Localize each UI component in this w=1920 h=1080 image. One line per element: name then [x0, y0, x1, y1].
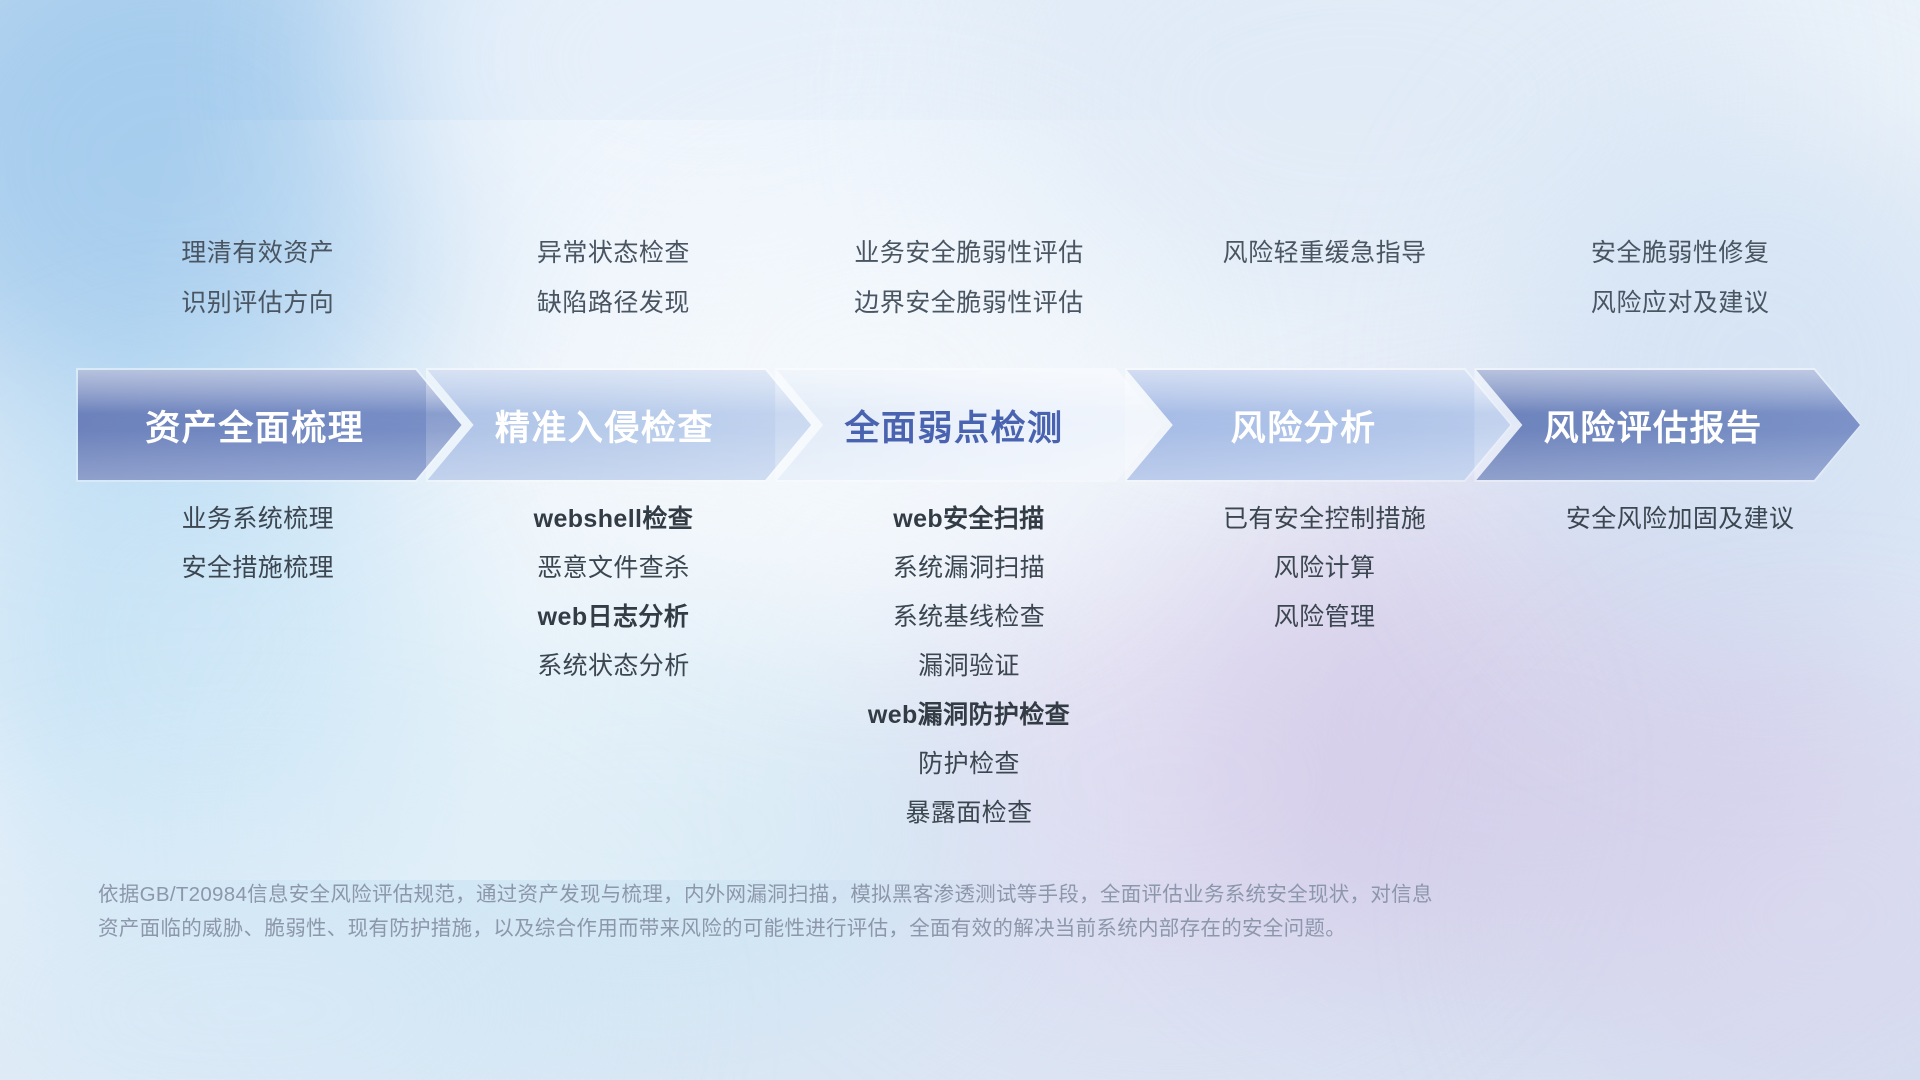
list-item: 安全措施梳理	[182, 544, 334, 593]
list-item: web日志分析	[538, 593, 689, 642]
top-label: 异常状态检查	[537, 228, 690, 278]
stage-details-row: 业务系统梳理 安全措施梳理 webshell检查 恶意文件查杀 web日志分析 …	[80, 495, 1858, 838]
top-label: 识别评估方向	[181, 278, 334, 328]
top-labels-weakness-detection: 业务安全脆弱性评估 边界安全脆弱性评估	[791, 228, 1147, 338]
list-item: 风险计算	[1274, 544, 1376, 593]
list-item: 已有安全控制措施	[1223, 495, 1426, 544]
top-label: 缺陷路径发现	[537, 278, 690, 328]
top-label: 风险轻重缓急指导	[1223, 228, 1427, 278]
top-label: 业务安全脆弱性评估	[854, 228, 1084, 278]
detail-list-asset-inventory: 业务系统梳理 安全措施梳理	[80, 495, 436, 593]
top-labels-risk-analysis: 风险轻重缓急指导	[1147, 228, 1503, 338]
stage-arrow-asset-inventory[interactable]: 资产全面梳理	[78, 370, 462, 480]
top-labels-intrusion-check: 异常状态检查 缺陷路径发现	[436, 228, 792, 338]
stage-title: 资产全面梳理	[145, 400, 394, 451]
list-item: 安全风险加固及建议	[1566, 495, 1795, 544]
stage-title: 全面弱点检测	[844, 400, 1093, 451]
list-item: 漏洞验证	[918, 642, 1020, 691]
list-item: 系统基线检查	[893, 593, 1045, 642]
stage-arrow-risk-report[interactable]: 风险评估报告	[1476, 370, 1860, 480]
stage-arrow-band: 资产全面梳理 精准入侵检查 全面弱点检测 风险分析 风险评估报告	[78, 370, 1860, 480]
top-label: 边界安全脆弱性评估	[854, 278, 1084, 328]
detail-list-risk-analysis: 已有安全控制措施 风险计算 风险管理	[1147, 495, 1503, 642]
footer-description: 依据GB/T20984信息安全风险评估规范，通过资产发现与梳理，内外网漏洞扫描，…	[98, 878, 1658, 946]
list-item: web漏洞防护检查	[868, 691, 1070, 740]
top-label: 理清有效资产	[181, 228, 334, 278]
list-item: web安全扫描	[893, 495, 1044, 544]
stage-arrow-weakness-detection[interactable]: 全面弱点检测	[777, 370, 1161, 480]
stage-title: 风险评估报告	[1544, 400, 1793, 451]
top-label: 安全脆弱性修复	[1591, 228, 1770, 278]
footer-line-1: 依据GB/T20984信息安全风险评估规范，通过资产发现与梳理，内外网漏洞扫描，…	[98, 878, 1658, 912]
list-item: 恶意文件查杀	[537, 544, 689, 593]
stage-title: 风险分析	[1231, 400, 1407, 451]
stage-arrow-risk-analysis[interactable]: 风险分析	[1127, 370, 1511, 480]
list-item: 风险管理	[1274, 593, 1376, 642]
stage-title: 精准入侵检查	[495, 400, 744, 451]
footer-line-2: 资产面临的威胁、脆弱性、现有防护措施，以及综合作用而带来风险的可能性进行评估，全…	[98, 912, 1658, 946]
detail-list-intrusion-check: webshell检查 恶意文件查杀 web日志分析 系统状态分析	[436, 495, 792, 691]
detail-list-risk-report: 安全风险加固及建议	[1502, 495, 1858, 544]
top-labels-row: 理清有效资产 识别评估方向 异常状态检查 缺陷路径发现 业务安全脆弱性评估 边界…	[80, 228, 1858, 338]
list-item: webshell检查	[534, 495, 694, 544]
stage-arrow-intrusion-check[interactable]: 精准入侵检查	[428, 370, 812, 480]
detail-list-weakness-detection: web安全扫描 系统漏洞扫描 系统基线检查 漏洞验证 web漏洞防护检查 防护检…	[791, 495, 1147, 838]
list-item: 业务系统梳理	[182, 495, 334, 544]
list-item: 暴露面检查	[905, 789, 1032, 838]
top-labels-risk-report: 安全脆弱性修复 风险应对及建议	[1502, 228, 1858, 338]
top-label: 风险应对及建议	[1591, 278, 1770, 328]
list-item: 系统状态分析	[537, 642, 689, 691]
process-flow-diagram: 理清有效资产 识别评估方向 异常状态检查 缺陷路径发现 业务安全脆弱性评估 边界…	[0, 0, 1920, 1080]
list-item: 防护检查	[918, 740, 1020, 789]
top-labels-asset-inventory: 理清有效资产 识别评估方向	[80, 228, 436, 338]
list-item: 系统漏洞扫描	[893, 544, 1045, 593]
